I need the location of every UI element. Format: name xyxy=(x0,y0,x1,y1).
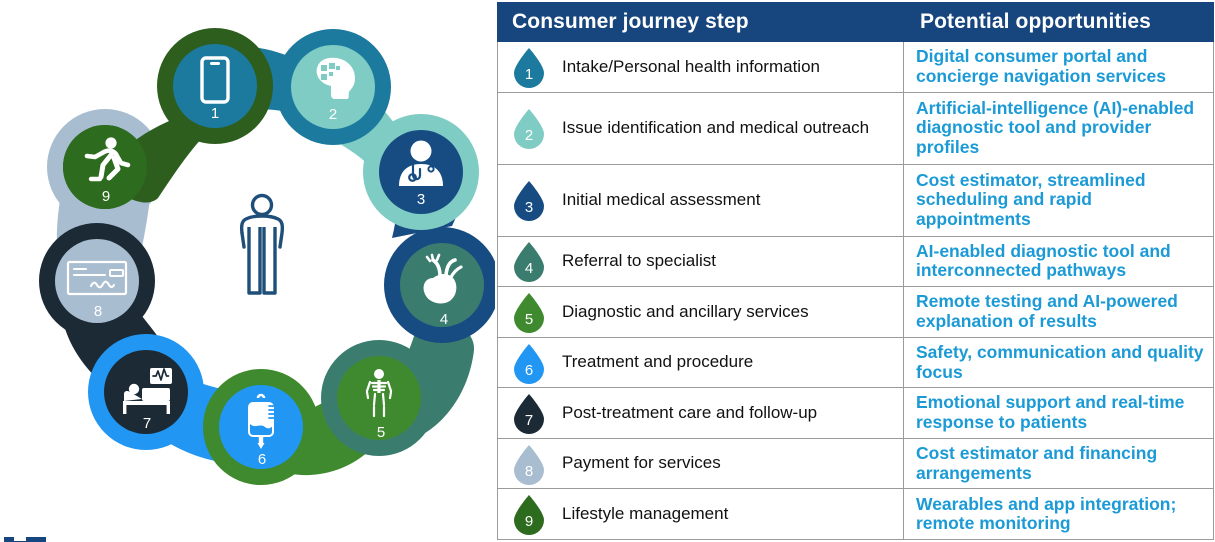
step-cell: 2 Issue identification and medical outre… xyxy=(498,92,904,164)
step-droplet-marker-5: 5 xyxy=(512,291,546,333)
step-droplet-marker-9: 9 xyxy=(512,493,546,535)
journey-node-3-number: 3 xyxy=(417,191,425,208)
opportunities-table-panel: Consumer journey step Potential opportun… xyxy=(497,2,1213,540)
journey-node-6[interactable]: 6 xyxy=(219,385,303,469)
table-row[interactable]: 7 Post-treatment care and follow-up Emot… xyxy=(498,388,1214,439)
opportunity-cell: AI-enabled diagnostic tool and interconn… xyxy=(904,236,1214,287)
opportunity-cell: Emotional support and real-time response… xyxy=(904,388,1214,439)
step-label: Issue identification and medical outreac… xyxy=(562,118,869,138)
journey-node-8[interactable]: 8 xyxy=(55,239,139,323)
svg-text:6: 6 xyxy=(525,362,533,379)
table-row[interactable]: 9 Lifestyle management Wearables and app… xyxy=(498,489,1214,540)
journey-node-2[interactable]: 2 xyxy=(291,45,375,129)
table-header-row: Consumer journey step Potential opportun… xyxy=(498,3,1214,42)
journey-node-9[interactable]: 9 xyxy=(63,125,147,209)
step-label: Lifestyle management xyxy=(562,504,728,524)
journey-node-4-number: 4 xyxy=(440,311,448,328)
step-label: Post-treatment care and follow-up xyxy=(562,403,817,423)
journey-node-9-number: 9 xyxy=(102,188,110,205)
journey-node-3[interactable]: 3 xyxy=(379,130,463,214)
svg-text:9: 9 xyxy=(525,513,533,530)
column-header-potential-opportunities: Potential opportunities xyxy=(904,3,1214,42)
step-cell: 6 Treatment and procedure xyxy=(498,337,904,388)
opportunity-cell: Cost estimator and financing arrangement… xyxy=(904,438,1214,489)
opportunity-cell: Remote testing and AI-powered explanatio… xyxy=(904,287,1214,338)
step-label: Initial medical assessment xyxy=(562,190,760,210)
table-row[interactable]: 1 Intake/Personal health information Dig… xyxy=(498,42,1214,93)
svg-text:3: 3 xyxy=(525,199,533,216)
step-cell: 4 Referral to specialist xyxy=(498,236,904,287)
table-row[interactable]: 5 Diagnostic and ancillary services Remo… xyxy=(498,287,1214,338)
opportunity-cell: Safety, communication and quality focus xyxy=(904,337,1214,388)
table-row[interactable]: 8 Payment for services Cost estimator an… xyxy=(498,438,1214,489)
svg-text:4: 4 xyxy=(525,260,533,277)
step-label: Payment for services xyxy=(562,453,721,473)
journey-node-2-number: 2 xyxy=(329,106,337,123)
table-row[interactable]: 3 Initial medical assessment Cost estima… xyxy=(498,164,1214,236)
step-cell: 9 Lifestyle management xyxy=(498,489,904,540)
consumer-journey-diagram: 1 2 3 4 5 6 7 xyxy=(0,0,495,542)
journey-node-5-number: 5 xyxy=(377,424,385,441)
journey-node-1[interactable]: 1 xyxy=(173,44,257,128)
table-row[interactable]: 2 Issue identification and medical outre… xyxy=(498,92,1214,164)
opportunity-cell: Digital consumer portal and concierge na… xyxy=(904,42,1214,93)
opportunity-cell: Cost estimator, streamlined scheduling a… xyxy=(904,164,1214,236)
journey-node-7-number: 7 xyxy=(143,415,151,432)
step-droplet-marker-4: 4 xyxy=(512,240,546,282)
svg-text:5: 5 xyxy=(525,311,533,328)
table-row[interactable]: 4 Referral to specialist AI-enabled diag… xyxy=(498,236,1214,287)
step-droplet-marker-2: 2 xyxy=(512,107,546,149)
step-droplet-marker-8: 8 xyxy=(512,443,546,485)
svg-text:8: 8 xyxy=(525,463,533,480)
step-label: Intake/Personal health information xyxy=(562,57,820,77)
step-cell: 1 Intake/Personal health information xyxy=(498,42,904,93)
step-droplet-marker-1: 1 xyxy=(512,46,546,88)
journey-node-6-number: 6 xyxy=(258,451,266,468)
step-cell: 7 Post-treatment care and follow-up xyxy=(498,388,904,439)
step-label: Diagnostic and ancillary services xyxy=(562,302,809,322)
opportunity-cell: Artificial-intelligence (AI)-enabled dia… xyxy=(904,92,1214,164)
step-cell: 8 Payment for services xyxy=(498,438,904,489)
column-header-consumer-journey-step: Consumer journey step xyxy=(498,3,904,42)
slide-corner-artifact xyxy=(4,537,46,542)
step-label: Treatment and procedure xyxy=(562,352,753,372)
svg-text:2: 2 xyxy=(525,127,533,144)
step-cell: 5 Diagnostic and ancillary services xyxy=(498,287,904,338)
step-droplet-marker-3: 3 xyxy=(512,179,546,221)
svg-text:1: 1 xyxy=(525,66,533,83)
step-droplet-marker-7: 7 xyxy=(512,392,546,434)
svg-text:7: 7 xyxy=(525,412,533,429)
journey-node-8-number: 8 xyxy=(94,303,102,320)
step-droplet-marker-6: 6 xyxy=(512,342,546,384)
step-label: Referral to specialist xyxy=(562,251,716,271)
opportunity-cell: Wearables and app integration; remote mo… xyxy=(904,489,1214,540)
table-row[interactable]: 6 Treatment and procedure Safety, commun… xyxy=(498,337,1214,388)
journey-node-7[interactable]: 7 xyxy=(104,350,188,434)
person-outline-icon xyxy=(242,196,283,294)
step-cell: 3 Initial medical assessment xyxy=(498,164,904,236)
journey-node-1-number: 1 xyxy=(211,105,219,122)
consumer-journey-table: Consumer journey step Potential opportun… xyxy=(497,2,1214,540)
journey-ring-graphic: 1 2 3 4 5 6 7 xyxy=(0,0,495,542)
